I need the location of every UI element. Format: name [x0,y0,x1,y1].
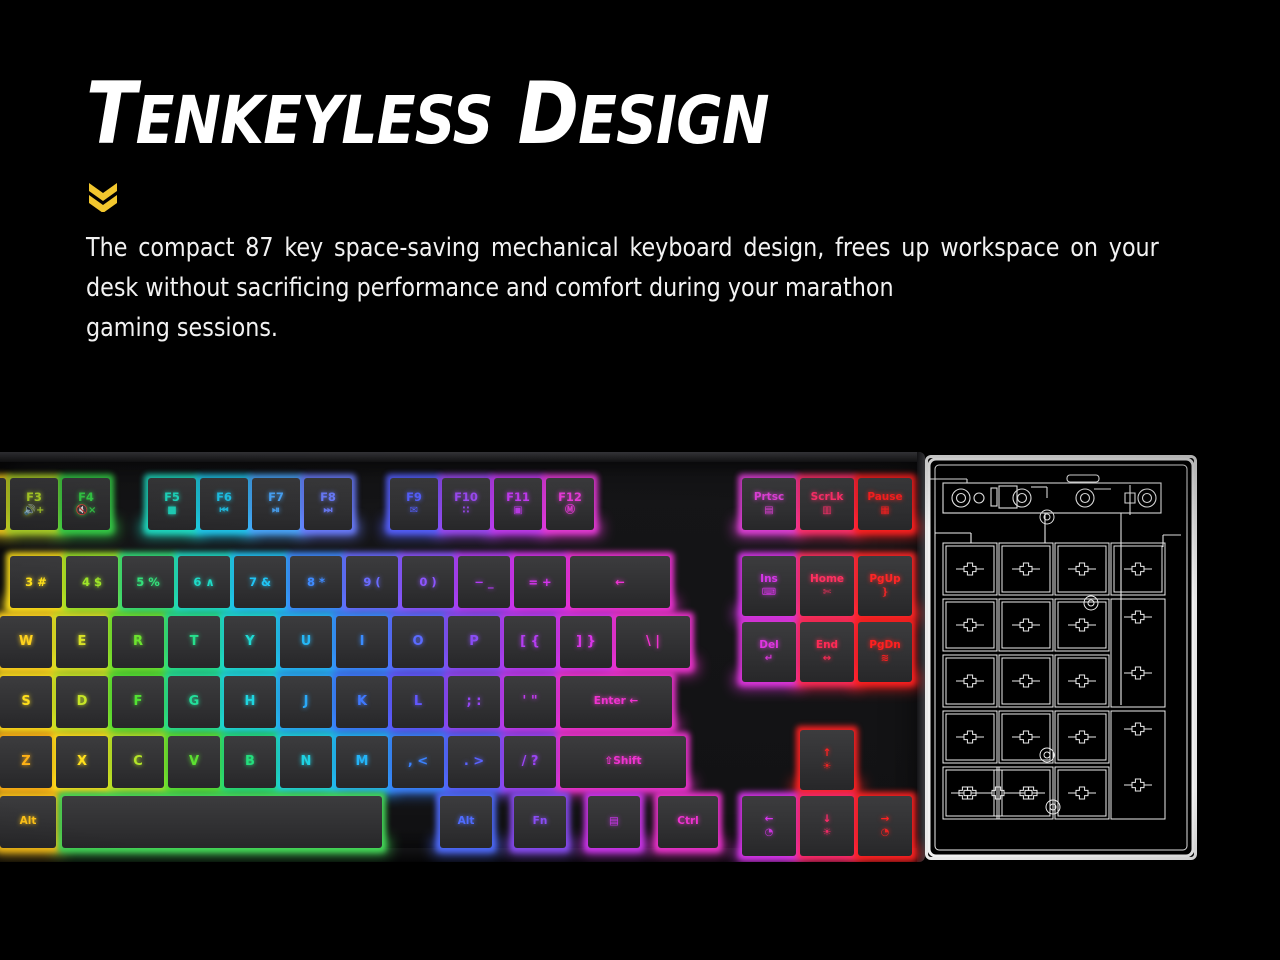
key-legend: V [189,755,199,769]
key--[interactable]: = + [514,556,566,608]
previous-track-icon: ⏮ [220,506,229,517]
arrow-left-key[interactable]: ←◔ [742,796,796,856]
key-sublegend: ◔ [881,828,890,839]
key-g[interactable]: G [168,676,220,728]
key-6-[interactable]: 6 ∧ [178,556,230,608]
key-n[interactable]: N [280,736,332,788]
page-down-key[interactable]: PgDn≋ [858,622,912,682]
page-title: TENKEYLESS DESIGN [86,72,1032,156]
key-legend: = + [528,576,551,588]
keyboard-right-edge [917,452,925,862]
key-z[interactable]: Z [0,736,52,788]
key-legend: ↑ [823,748,832,759]
key-legend: Pause [867,492,902,503]
key-f2[interactable]: F2🔉− [0,478,6,530]
key-sublegend: ✄ [823,588,831,599]
key-legend: B [245,755,255,769]
key-legend: 5 % [136,576,160,588]
keyboard-top-edge [0,452,925,462]
key-sublegend: ☀ [823,762,832,773]
key--[interactable]: ; : [448,676,500,728]
key-t[interactable]: T [168,616,220,668]
key-sublegend: ☀ [823,828,832,839]
key-legend: H [245,695,256,709]
key-legend: Alt [458,816,475,827]
key-legend: ▤ [609,816,619,827]
key-legend: . > [464,755,484,769]
key-legend: O [412,635,423,649]
key-sublegend: ≋ [881,654,889,665]
keyboard-image: F2🔉−F3🔊+F4🔇×F5■F6⏮F7⏯F8⏭F9✉F10∷F11▣F12ⓂP… [0,452,925,862]
key-r[interactable]: R [112,616,164,668]
key-legend: Prtsc [754,492,784,503]
key-w[interactable]: W [0,616,52,668]
key-legend: − _ [474,576,493,588]
key-legend: M [356,755,369,769]
spacebar-key[interactable] [62,796,382,848]
description-line-3: gaming sessions. [86,308,1159,348]
key-f7[interactable]: F7⏯ [252,478,300,530]
key-legend: Ctrl [677,816,699,827]
plate-wireframe-diagram [925,455,1197,860]
key--[interactable]: , < [392,736,444,788]
key-legend: ← [615,576,625,588]
key-8-[interactable]: 8 * [290,556,342,608]
key-legend: Fn [533,816,548,827]
key-legend: Home [810,574,844,585]
key-legend: E [78,635,87,649]
key-legend: I [360,635,365,649]
key-legend: ' " [522,695,537,709]
double-chevron-down-icon [88,182,122,212]
key-legend: 4 $ [82,576,102,588]
key-o[interactable]: O [392,616,444,668]
key-e[interactable]: E [56,616,108,668]
key-legend: S [21,695,30,709]
key-0-[interactable]: 0 ) [402,556,454,608]
key-m[interactable]: M [336,736,388,788]
arrow-up-key[interactable]: ↑☀ [800,730,854,790]
key-sublegend: ↵ [765,654,773,665]
key-legend: R [133,635,143,649]
key-f12[interactable]: F12Ⓜ [546,478,594,530]
key--[interactable]: − _ [458,556,510,608]
key-legend: 8 * [307,576,325,588]
key-legend: F12 [558,491,582,503]
key-s[interactable]: S [0,676,52,728]
key-u[interactable]: U [280,616,332,668]
key-x[interactable]: X [56,736,108,788]
key-prtsc[interactable]: Prtsc▤ [742,478,796,530]
key--[interactable]: . > [448,736,500,788]
key-y[interactable]: Y [224,616,276,668]
key-legend: Y [245,635,254,649]
key-d[interactable]: D [56,676,108,728]
key-legend: K [357,695,367,709]
key-sublegend: ❵ [881,588,889,599]
key-legend: F4 [78,491,94,503]
key-legend: ↓ [823,814,832,825]
media-icon: Ⓜ [565,506,575,517]
key-sublegend: ⌨ [762,588,776,599]
key-3-[interactable]: 3 # [10,556,62,608]
home-key[interactable]: Home✄ [800,556,854,616]
key-legend: X [77,755,87,769]
key-7-[interactable]: 7 & [234,556,286,608]
key-v[interactable]: V [168,736,220,788]
key-f5[interactable]: F5■ [148,478,196,530]
key-pause[interactable]: Pause▦ [858,478,912,530]
key--[interactable]: ] } [560,616,612,668]
arrow-right-key[interactable]: →◔ [858,796,912,856]
key-sublegend: ◔ [765,828,774,839]
key-legend: F [134,695,143,709]
menu-key[interactable]: ▤ [588,796,640,848]
key-legend: Del [759,640,778,651]
key-legend: Z [21,755,30,769]
key-f9[interactable]: F9✉ [390,478,438,530]
key-legend: 0 ) [419,576,436,588]
key-f[interactable]: F [112,676,164,728]
key-legend: [ { [520,635,540,649]
key-legend: / ? [522,755,539,769]
key-h[interactable]: H [224,676,276,728]
key-l[interactable]: L [392,676,444,728]
key-scrlk[interactable]: ScrLk▥ [800,478,854,530]
apps-icon: ∷ [463,506,470,517]
key-f4[interactable]: F4🔇× [62,478,110,530]
key-f6[interactable]: F6⏮ [200,478,248,530]
key-legend: ⇧Shift [604,756,641,767]
key-legend: G [189,695,200,709]
key-legend: \ | [646,635,660,649]
key-legend: ← [765,814,774,825]
arrow-down-key[interactable]: ↓☀ [800,796,854,856]
key-b[interactable]: B [224,736,276,788]
key-f8[interactable]: F8⏭ [304,478,352,530]
key-legend: Enter ← [594,696,638,707]
key-9-[interactable]: 9 ( [346,556,398,608]
key-legend: ScrLk [811,492,844,503]
key-legend: L [414,695,422,709]
key-legend: F8 [320,491,336,503]
key-legend: PgUp [869,574,900,585]
key-legend: ; : [467,695,482,709]
key-legend: U [301,635,312,649]
right-ctrl-key[interactable]: Ctrl [658,796,718,848]
print-screen-icon: ▤ [764,506,773,517]
description-text: The compact 87 key space-saving mechanic… [86,228,1159,348]
delete-key[interactable]: Del↵ [742,622,796,682]
key-k[interactable]: K [336,676,388,728]
key-legend: F9 [406,491,422,503]
key-f3[interactable]: F3🔊+ [10,478,58,530]
key-p[interactable]: P [448,616,500,668]
key-legend: F7 [268,491,284,503]
key-legend: F6 [216,491,232,503]
key-legend: W [19,635,33,649]
key-c[interactable]: C [112,736,164,788]
play-pause-icon: ⏯ [272,506,280,517]
key-f11[interactable]: F11▣ [494,478,542,530]
key-legend: C [133,755,143,769]
enter-key[interactable]: Enter ← [560,676,672,728]
page-up-key[interactable]: PgUp❵ [858,556,912,616]
key-legend: F10 [454,491,478,503]
key--[interactable]: [ { [504,616,556,668]
volume-mute-icon: 🔇× [76,506,97,517]
left-alt-key[interactable]: Alt [0,796,56,848]
key-legend: F3 [26,491,42,503]
end-key[interactable]: End↔ [800,622,854,682]
mail-icon: ✉ [410,506,418,517]
key-legend: 9 ( [363,576,380,588]
key-legend: 6 ∧ [193,576,214,588]
key-legend: D [77,695,88,709]
key-legend: 7 & [249,576,271,588]
key-j[interactable]: J [280,676,332,728]
key-legend: N [301,755,312,769]
key-legend: 3 # [25,576,47,588]
stop-icon: ■ [167,506,176,517]
key-legend: Ins [760,574,778,585]
page-title-word-1: TENKEYLESS [86,64,493,164]
key-4-[interactable]: 4 $ [66,556,118,608]
next-track-icon: ⏭ [324,506,333,517]
volume-up-icon: 🔊+ [24,506,45,517]
key--[interactable]: ' " [504,676,556,728]
key-sublegend: ↔ [823,654,831,665]
key-legend: T [190,635,199,649]
key-legend: P [469,635,479,649]
key-legend: End [816,640,838,651]
key-f10[interactable]: F10∷ [442,478,490,530]
key-5-[interactable]: 5 % [122,556,174,608]
insert-key[interactable]: Ins⌨ [742,556,796,616]
scroll-lock-icon: ▥ [822,506,831,517]
key-legend: ] } [576,635,596,649]
key-legend: PgDn [869,640,900,651]
backspace-key[interactable]: ← [570,556,670,608]
key-legend: → [881,814,890,825]
fn-key[interactable]: Fn [514,796,566,848]
right-shift-key[interactable]: ⇧Shift [560,736,686,788]
backslash-key[interactable]: \ | [616,616,690,668]
right-alt-key[interactable]: Alt [440,796,492,848]
pause-break-icon: ▦ [880,506,889,517]
page-title-word-2: DESIGN [518,64,769,164]
key-legend: Alt [20,816,37,827]
key--[interactable]: / ? [504,736,556,788]
key-legend: , < [408,755,428,769]
description-line-1: The compact 87 key space-saving mechanic… [86,233,1059,263]
key-legend: J [304,695,309,709]
key-legend: F11 [506,491,530,503]
key-i[interactable]: I [336,616,388,668]
calculator-icon: ▣ [513,506,522,517]
key-legend: F5 [164,491,180,503]
